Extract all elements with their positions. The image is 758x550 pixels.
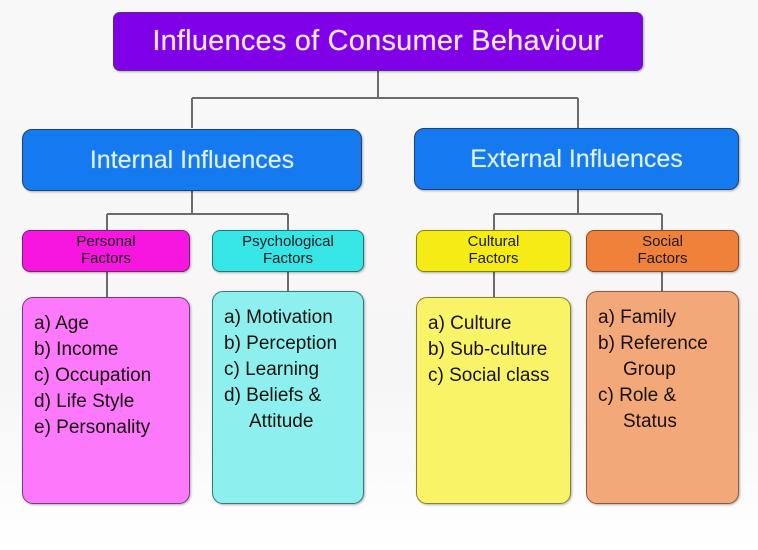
branch-box-internal-influences: Internal Influences — [22, 129, 362, 191]
category-header-line1-cultural: Cultural — [468, 233, 520, 250]
list-item: b) Reference — [598, 331, 730, 357]
category-header-social-factors: SocialFactors — [586, 230, 739, 272]
list-item: Status — [598, 409, 730, 435]
category-panel-cultural-factors: a) Cultureb) Sub-culturec) Social class — [416, 297, 571, 504]
list-item: a) Age — [34, 311, 181, 337]
branch-label-external-influences: External Influences — [470, 145, 683, 173]
category-header-personal-factors: PersonalFactors — [22, 230, 190, 272]
category-header-cultural-factors: CulturalFactors — [416, 230, 571, 272]
category-header-line1-psychological: Psychological — [242, 233, 334, 250]
category-header-label-social: SocialFactors — [637, 234, 687, 268]
list-item: c) Role & — [598, 383, 730, 409]
diagram-title-label: Influences of Consumer Behaviour — [152, 25, 603, 57]
category-header-label-cultural: CulturalFactors — [468, 234, 520, 268]
category-panel-personal-factors: a) Ageb) Incomec) Occupationd) Life Styl… — [22, 297, 190, 504]
list-item: b) Perception — [224, 331, 355, 357]
list-item: c) Occupation — [34, 363, 181, 389]
diagram-canvas: Influences of Consumer Behaviour Interna… — [0, 0, 758, 550]
list-item: a) Culture — [428, 311, 562, 337]
category-header-line2-social: Factors — [637, 250, 687, 267]
item-list-social: a) Familyb) ReferenceGroupc) Role &Statu… — [598, 305, 730, 435]
list-item: e) Personality — [34, 415, 181, 441]
category-header-line2-cultural: Factors — [468, 250, 518, 267]
list-item: a) Family — [598, 305, 730, 331]
category-panel-social-factors: a) Familyb) ReferenceGroupc) Role &Statu… — [586, 291, 739, 504]
list-item: c) Social class — [428, 363, 562, 389]
category-header-label-psychological: PsychologicalFactors — [242, 234, 334, 268]
category-header-line1-personal: Personal — [76, 233, 135, 250]
branch-box-external-influences: External Influences — [414, 128, 739, 190]
branch-label-internal-influences: Internal Influences — [90, 146, 294, 174]
list-item: d) Beliefs & — [224, 383, 355, 409]
item-list-personal: a) Ageb) Incomec) Occupationd) Life Styl… — [34, 311, 181, 441]
category-panel-psychological-factors: a) Motivationb) Perceptionc) Learningd) … — [212, 291, 364, 504]
diagram-title-box: Influences of Consumer Behaviour — [113, 12, 643, 71]
list-item: Attitude — [224, 409, 355, 435]
list-item: a) Motivation — [224, 305, 355, 331]
category-header-label-personal: PersonalFactors — [76, 234, 135, 268]
category-header-line1-social: Social — [642, 233, 683, 250]
category-header-line2-psychological: Factors — [263, 250, 313, 267]
list-item: d) Life Style — [34, 389, 181, 415]
item-list-psychological: a) Motivationb) Perceptionc) Learningd) … — [224, 305, 355, 435]
category-header-line2-personal: Factors — [81, 250, 131, 267]
list-item: b) Income — [34, 337, 181, 363]
list-item: c) Learning — [224, 357, 355, 383]
list-item: Group — [598, 357, 730, 383]
item-list-cultural: a) Cultureb) Sub-culturec) Social class — [428, 311, 562, 389]
list-item: b) Sub-culture — [428, 337, 562, 363]
category-header-psychological-factors: PsychologicalFactors — [212, 230, 364, 272]
